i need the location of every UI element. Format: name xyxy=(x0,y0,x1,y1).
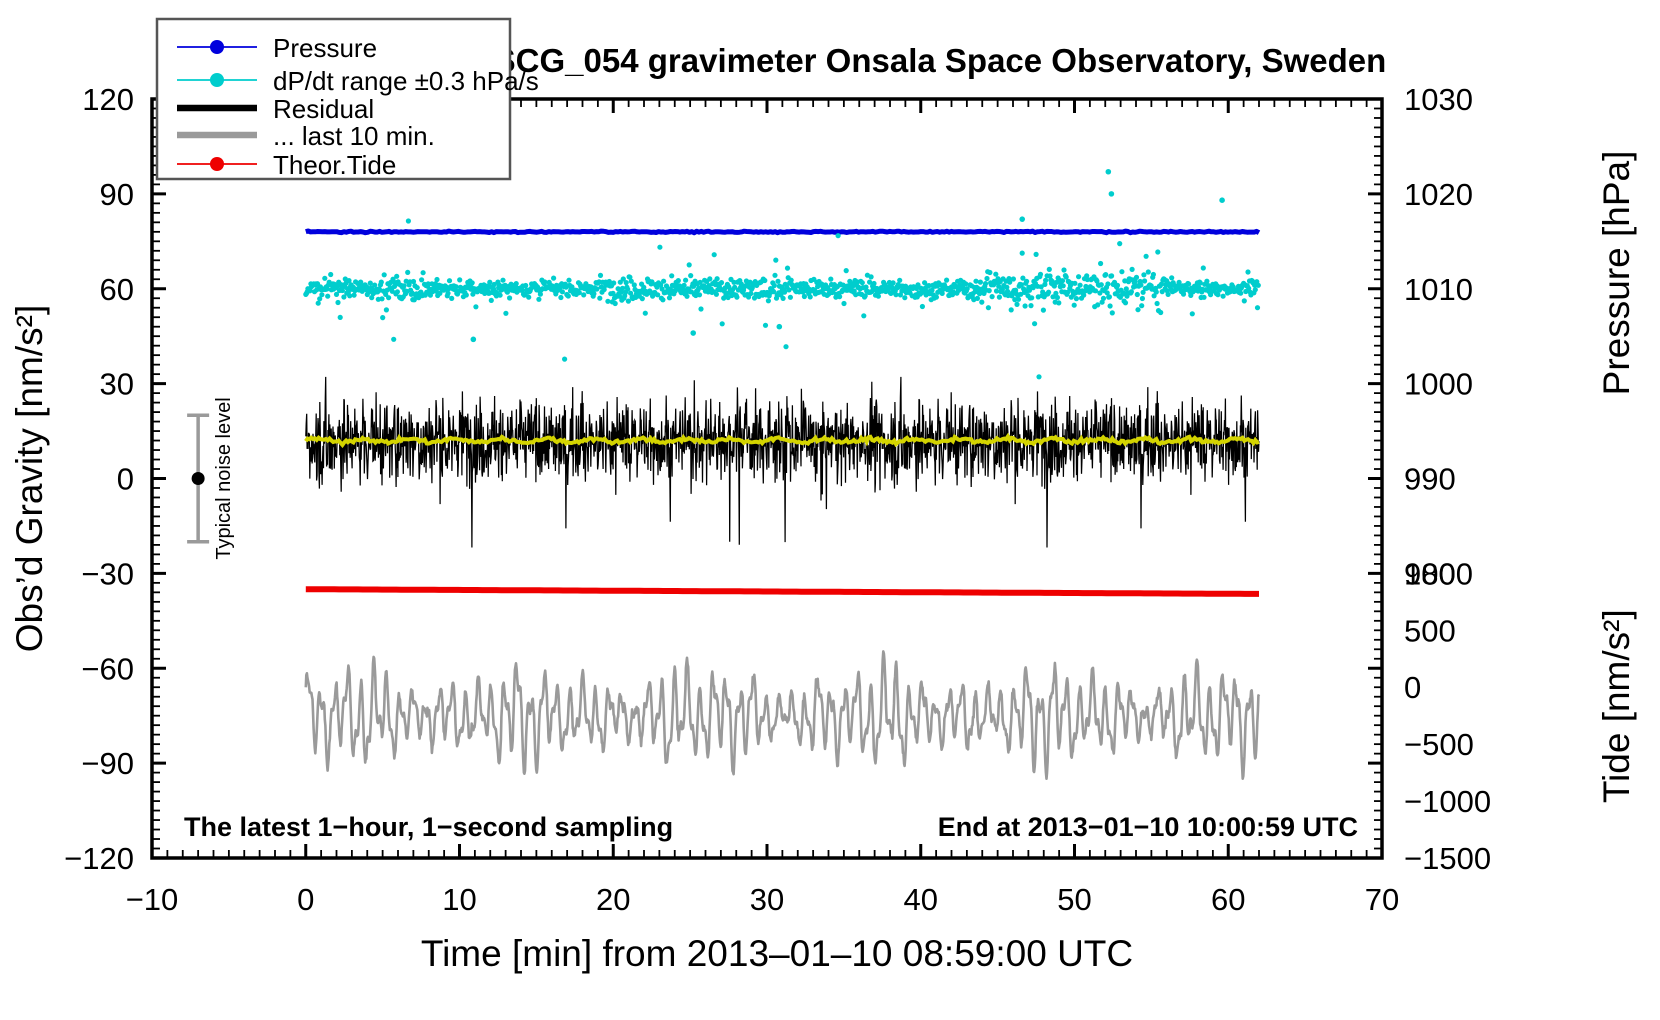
xtick-label-0: −10 xyxy=(126,882,179,917)
noise-center-dot xyxy=(192,472,205,485)
legend-marker-4 xyxy=(210,157,224,171)
series-last-10-min xyxy=(306,651,1259,778)
legend-marker-1 xyxy=(210,73,224,87)
annotation-bottom-left: The latest 1−hour, 1−second sampling xyxy=(184,812,673,842)
series-theor-tide xyxy=(306,589,1259,594)
ytick-label-left-5: −30 xyxy=(81,556,134,591)
xtick-label-4: 30 xyxy=(750,882,784,917)
ytick-label-tide-3: −500 xyxy=(1404,727,1474,762)
xtick-label-3: 20 xyxy=(596,882,630,917)
axis-ticks xyxy=(152,99,1382,858)
series-dpdt-scatter xyxy=(303,169,1261,379)
series-pressure xyxy=(306,231,1259,233)
ylabel-right-pressure: Pressure [hPa] xyxy=(1596,151,1637,396)
xtick-label-2: 10 xyxy=(442,882,476,917)
ytick-label-left-6: −60 xyxy=(81,651,134,686)
ytick-label-pressure-4: 990 xyxy=(1404,462,1456,497)
xtick-label-1: 0 xyxy=(297,882,314,917)
legend-label-4: Theor.Tide xyxy=(273,150,396,180)
xtick-label-5: 40 xyxy=(904,882,938,917)
ytick-label-pressure-1: 1020 xyxy=(1404,177,1473,212)
legend-label-3: ... last 10 min. xyxy=(273,121,435,151)
gravimeter-plot: −100102030405060701209060300−30−60−90−12… xyxy=(0,0,1660,1020)
ytick-label-pressure-2: 1010 xyxy=(1404,272,1473,307)
ytick-label-tide-4: −1000 xyxy=(1404,784,1491,819)
xtick-label-6: 50 xyxy=(1057,882,1091,917)
ytick-label-left-1: 90 xyxy=(100,177,134,212)
ytick-label-tide-5: −1500 xyxy=(1404,841,1491,876)
ytick-label-tide-2: 0 xyxy=(1404,670,1421,705)
ylabel-left: Obs’d Gravity [nm/s²] xyxy=(9,305,50,652)
ytick-label-left-3: 30 xyxy=(100,367,134,402)
series-residual xyxy=(306,377,1259,548)
ytick-label-left-0: 120 xyxy=(82,82,134,117)
annotation-bottom-right: End at 2013−01−10 10:00:59 UTC xyxy=(938,812,1358,842)
legend-label-0: Pressure xyxy=(273,33,377,63)
noise-level-label: Typical noise level xyxy=(213,397,235,559)
xlabel-bottom: Time [min] from 2013‒01‒10 08:59:00 UTC xyxy=(421,933,1133,974)
ytick-label-left-4: 0 xyxy=(117,462,134,497)
plot-frame xyxy=(152,99,1382,858)
xtick-label-7: 60 xyxy=(1211,882,1245,917)
ytick-label-left-2: 60 xyxy=(100,272,134,307)
ytick-label-pressure-3: 1000 xyxy=(1404,367,1473,402)
legend-label-1: dP/dt range ±0.3 hPa/s xyxy=(273,66,539,96)
ytick-label-tide-0: 1000 xyxy=(1404,556,1473,591)
page-title: SCG_054 gravimeter Onsala Space Observat… xyxy=(494,42,1387,79)
ytick-label-left-8: −120 xyxy=(64,841,134,876)
legend-label-2: Residual xyxy=(273,94,374,124)
ylabel-right-tide: Tide [nm/s²] xyxy=(1596,609,1637,803)
xtick-label-8: 70 xyxy=(1365,882,1399,917)
legend-marker-0 xyxy=(210,40,224,54)
ytick-label-tide-1: 500 xyxy=(1404,613,1456,648)
ytick-label-pressure-0: 1030 xyxy=(1404,82,1473,117)
ytick-label-left-7: −90 xyxy=(81,746,134,781)
plot-canvas: −100102030405060701209060300−30−60−90−12… xyxy=(0,0,1660,1020)
